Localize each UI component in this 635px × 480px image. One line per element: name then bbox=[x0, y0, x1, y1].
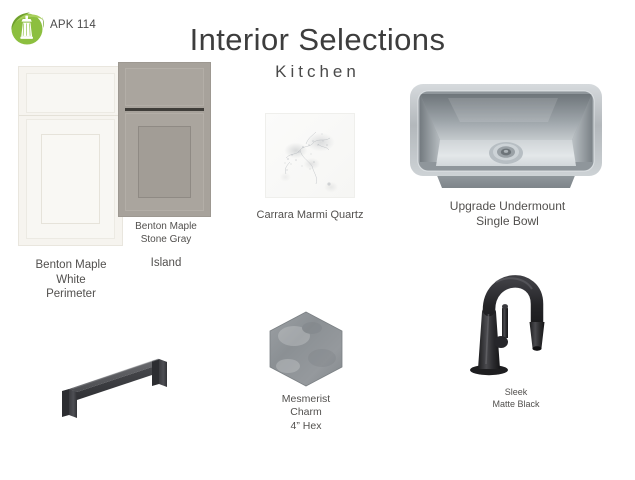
cabinet-door-face bbox=[125, 113, 204, 211]
cabinet-door-face bbox=[26, 119, 115, 239]
quartz-countertop-sample bbox=[265, 113, 355, 198]
cabinet-drawer-front bbox=[125, 68, 204, 106]
interior-selections-board: APK 114 Interior Selections Kitchen Bent… bbox=[0, 0, 635, 480]
cabinet-shadow-line bbox=[125, 108, 204, 111]
caption-quartz: Carrara Marmi Quartz bbox=[245, 208, 375, 222]
caption-cabinet-gray: Benton Maple Stone Gray bbox=[118, 221, 214, 247]
sink-drain bbox=[489, 142, 523, 164]
caption-hex-tile: Mesmerist Charm 4” Hex bbox=[265, 393, 347, 433]
caption-faucet: Sleek Matte Black bbox=[462, 387, 570, 410]
cabinet-door-gray-sample bbox=[118, 62, 211, 217]
undermount-sink-photo bbox=[408, 82, 604, 197]
cabinet-pull-handle-photo bbox=[55, 345, 180, 420]
cabinet-center-panel bbox=[41, 134, 100, 224]
caption-cabinet-white: Benton Maple White Perimeter bbox=[8, 258, 134, 302]
kitchen-faucet-photo bbox=[463, 252, 568, 382]
cabinet-drawer-front bbox=[26, 73, 115, 113]
cabinet-center-panel bbox=[138, 126, 191, 198]
caption-sink: Upgrade Undermount Single Bowl bbox=[420, 199, 595, 230]
caption-island: Island bbox=[122, 256, 210, 271]
cabinet-door-white-sample bbox=[18, 66, 123, 246]
page-title: Interior Selections bbox=[0, 22, 635, 58]
cabinet-seam bbox=[19, 115, 122, 116]
hex-tile-sample bbox=[264, 310, 348, 388]
